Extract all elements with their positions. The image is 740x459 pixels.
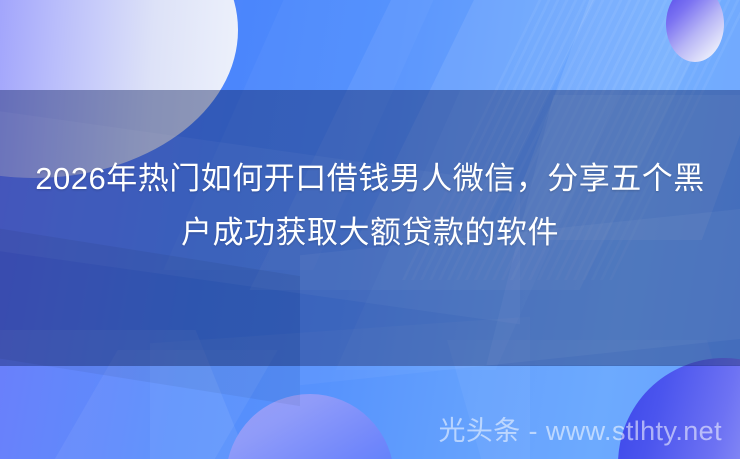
decor-facet-lower-left-narrow bbox=[2, 350, 277, 459]
site-watermark: 光头条 - www.stlhty.net bbox=[438, 413, 722, 449]
banner-title: 2026年热门如何开口借钱男人微信，分享五个黑户成功获取大额贷款的软件 bbox=[0, 152, 740, 260]
promo-banner: 2026年热门如何开口借钱男人微信，分享五个黑户成功获取大额贷款的软件 光头条 … bbox=[0, 0, 740, 459]
decor-blob-bottom-center-icon bbox=[226, 394, 394, 459]
decor-blob-top-right-icon bbox=[666, 0, 724, 62]
